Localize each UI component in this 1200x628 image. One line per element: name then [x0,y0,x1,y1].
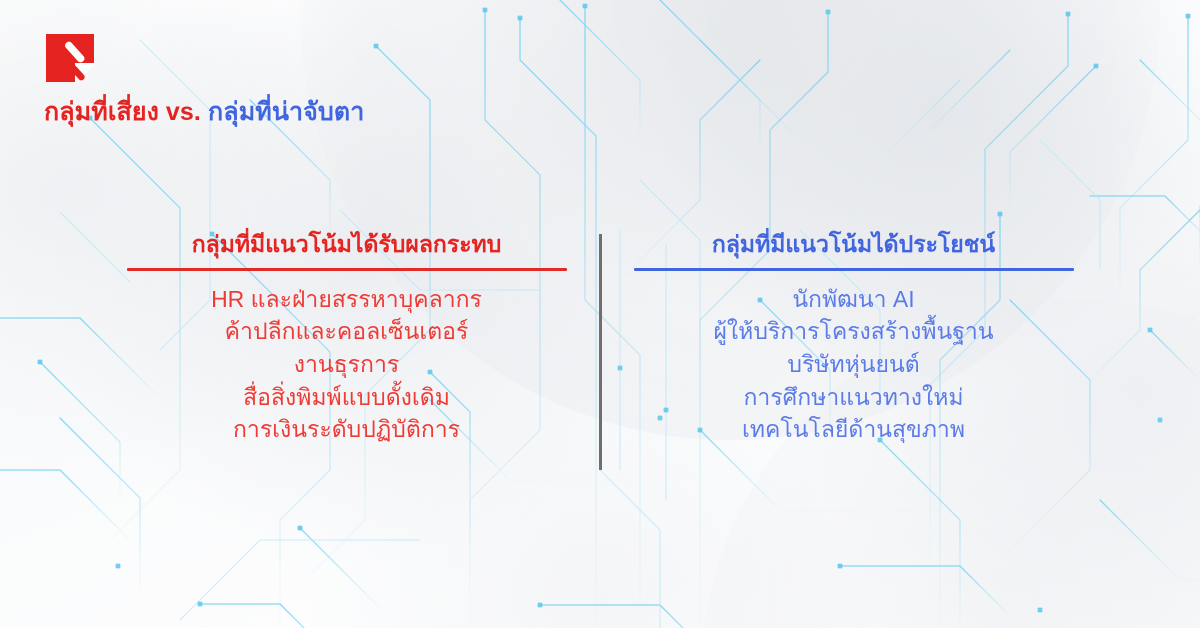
comparison-columns: กลุ่มที่มีแนวโน้มได้รับผลกระทบ HR และฝ่า… [0,230,1200,470]
list-item: บริษัทหุ่นยนต์ [634,348,1074,381]
list-item: ค้าปลีกและคอลเซ็นเตอร์ [127,315,567,348]
column-impacted: กลุ่มที่มีแนวโน้มได้รับผลกระทบ HR และฝ่า… [127,230,567,446]
column-benefiting: กลุ่มที่มีแนวโน้มได้ประโยชน์ นักพัฒนา AI… [634,230,1074,446]
list-item: งานธุรการ [127,348,567,381]
slide-header: กลุ่มที่เสี่ยง vs. กลุ่มที่น่าจับตา [44,32,684,127]
list-item: เทคโนโลยีด้านสุขภาพ [634,413,1074,446]
column-impacted-rule [127,268,567,271]
page-title: กลุ่มที่เสี่ยง vs. กลุ่มที่น่าจับตา [44,97,684,127]
column-benefiting-list: นักพัฒนา AI ผู้ให้บริการโครงสร้างพื้นฐาน… [634,283,1074,446]
column-divider [599,234,602,470]
page-title-risk-part: กลุ่มที่เสี่ยง vs. [44,98,201,126]
column-impacted-heading: กลุ่มที่มีแนวโน้มได้รับผลกระทบ [127,230,567,268]
list-item: สื่อสิ่งพิมพ์แบบดั้งเดิม [127,381,567,414]
list-item: นักพัฒนา AI [634,283,1074,316]
list-item: การเงินระดับปฏิบัติการ [127,413,567,446]
slide-canvas: กลุ่มที่เสี่ยง vs. กลุ่มที่น่าจับตา กลุ่… [0,0,1200,628]
column-impacted-list: HR และฝ่ายสรรหาบุคลากร ค้าปลีกและคอลเซ็น… [127,283,567,446]
column-benefiting-rule [634,268,1074,271]
document-pen-logo-icon [44,32,96,84]
list-item: การศึกษาแนวทางใหม่ [634,381,1074,414]
list-item: HR และฝ่ายสรรหาบุคลากร [127,283,567,316]
list-item: ผู้ให้บริการโครงสร้างพื้นฐาน [634,315,1074,348]
column-benefiting-heading: กลุ่มที่มีแนวโน้มได้ประโยชน์ [634,230,1074,268]
page-title-watch-part: กลุ่มที่น่าจับตา [208,98,364,126]
